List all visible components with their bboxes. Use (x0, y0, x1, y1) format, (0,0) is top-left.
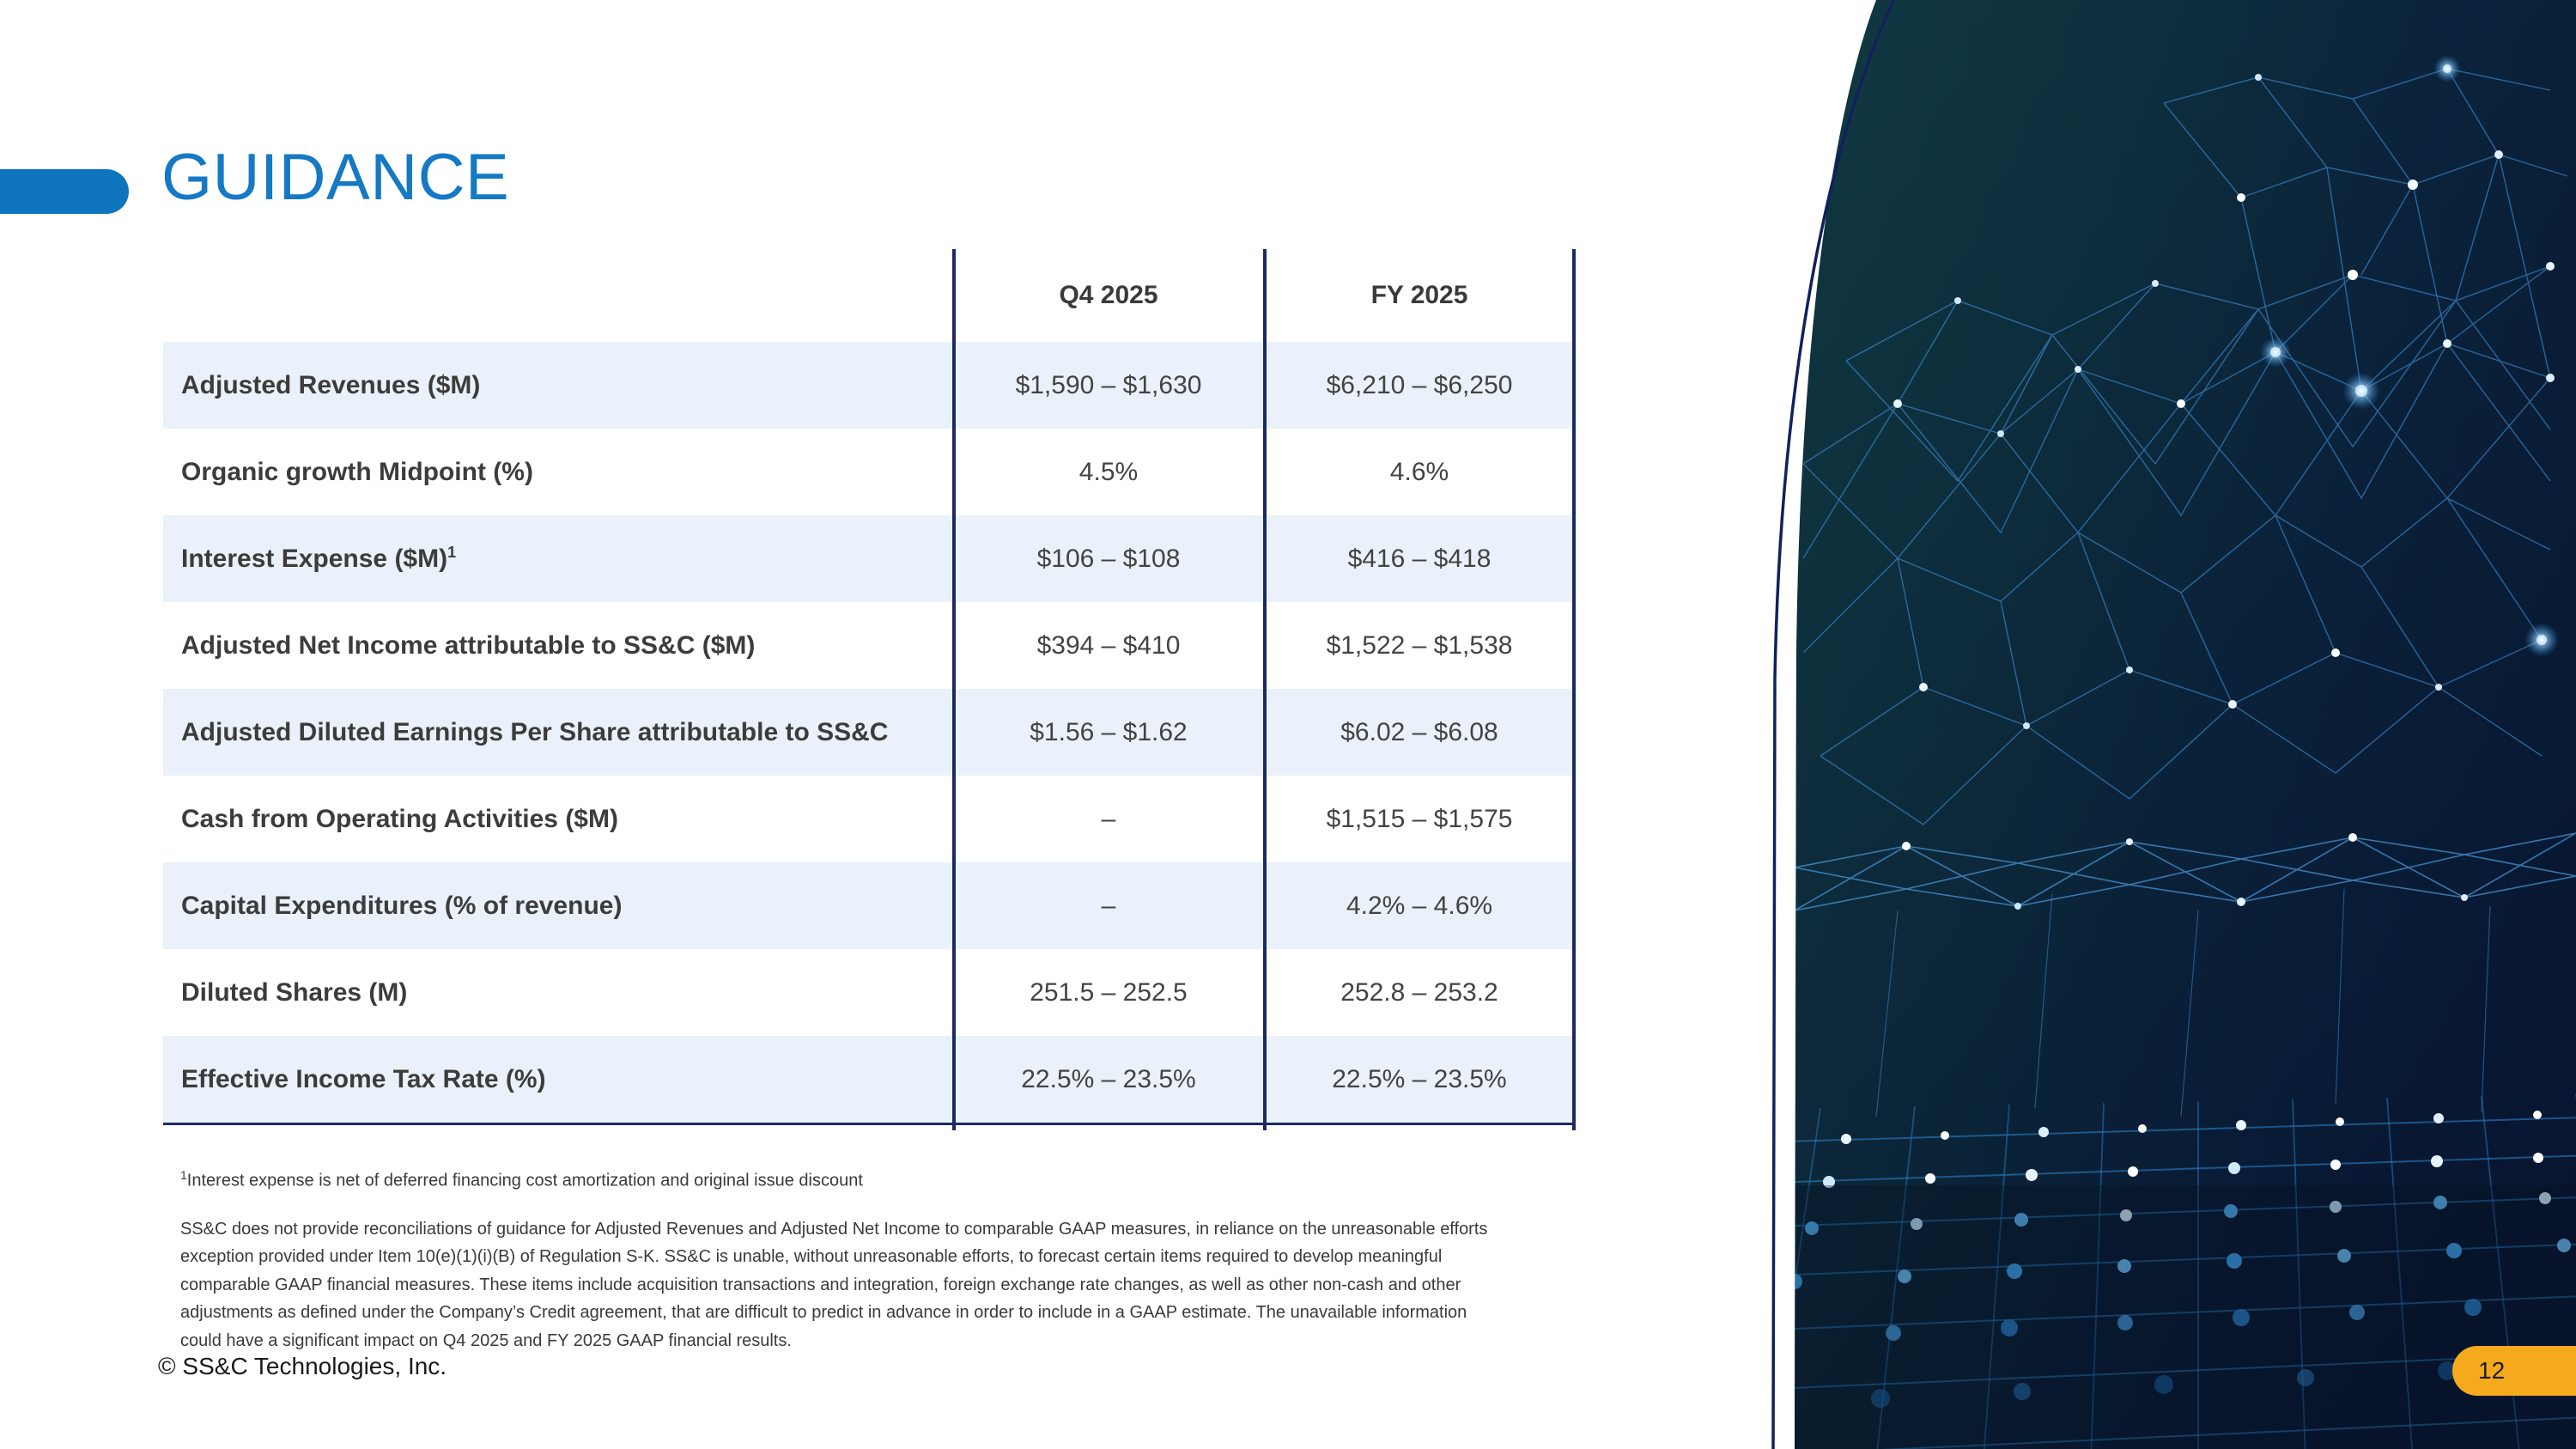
slide-canvas: GUIDANCE Q4 2025 FY 2025 Adjusted Revenu… (0, 0, 2576, 1449)
row-label: Adjusted Revenues ($M) (163, 371, 953, 400)
page-number-text: 12 (2478, 1357, 2505, 1385)
column-divider-left (952, 249, 956, 1130)
row-value-q4: – (953, 892, 1264, 921)
table-row: Interest Expense ($M)1$106 – $108$416 – … (163, 515, 1575, 602)
row-label: Interest Expense ($M)1 (163, 544, 953, 574)
page-number-badge: 12 (2452, 1346, 2576, 1396)
row-label: Diluted Shares (M) (163, 978, 953, 1008)
row-value-q4: $106 – $108 (953, 545, 1264, 574)
table-row: Effective Income Tax Rate (%)22.5% – 23.… (163, 1036, 1575, 1123)
network-graphic-panel (1795, 0, 2576, 1449)
row-value-q4: $1,590 – $1,630 (953, 371, 1264, 400)
network-mesh-svg (1795, 0, 2576, 1449)
row-value-q4: $1.56 – $1.62 (953, 718, 1264, 747)
row-label: Effective Income Tax Rate (%) (163, 1065, 953, 1094)
row-value-fy: 252.8 – 253.2 (1264, 978, 1575, 1008)
footnote-marker: 1 (180, 1168, 187, 1182)
row-label: Adjusted Net Income attributable to SS&C… (163, 631, 953, 661)
table-header-blank (163, 249, 953, 342)
table-row: Organic growth Midpoint (%)4.5%4.6% (163, 429, 1575, 515)
row-value-fy: $416 – $418 (1264, 545, 1575, 574)
row-value-q4: $394 – $410 (953, 631, 1264, 661)
row-value-fy: 4.6% (1264, 458, 1575, 487)
row-value-fy: $6.02 – $6.08 (1264, 718, 1575, 747)
row-value-q4: 22.5% – 23.5% (953, 1065, 1264, 1094)
row-label: Cash from Operating Activities ($M) (163, 805, 953, 834)
row-label: Capital Expenditures (% of revenue) (163, 892, 953, 921)
row-value-q4: 251.5 – 252.5 (953, 978, 1264, 1008)
footnote-interest-expense: 1Interest expense is net of deferred fin… (180, 1168, 863, 1191)
table-row: Cash from Operating Activities ($M)–$1,5… (163, 776, 1575, 862)
guidance-table: Q4 2025 FY 2025 Adjusted Revenues ($M)$1… (163, 249, 1575, 1125)
row-value-fy: $1,522 – $1,538 (1264, 631, 1575, 661)
disclaimer-paragraph: SS&C does not provide reconciliations of… (180, 1215, 1507, 1355)
table-header-q4: Q4 2025 (953, 249, 1264, 342)
row-label: Organic growth Midpoint (%) (163, 458, 953, 487)
row-value-fy: $6,210 – $6,250 (1264, 371, 1575, 400)
table-row: Adjusted Revenues ($M)$1,590 – $1,630$6,… (163, 342, 1575, 429)
column-divider-right (1572, 249, 1576, 1130)
title-accent-bar (0, 169, 129, 214)
table-row: Diluted Shares (M)251.5 – 252.5252.8 – 2… (163, 949, 1575, 1036)
row-value-fy: $1,515 – $1,575 (1264, 805, 1575, 834)
copyright-notice: © SS&C Technologies, Inc. (158, 1353, 447, 1380)
row-value-fy: 4.2% – 4.6% (1264, 892, 1575, 921)
column-divider-middle (1263, 249, 1267, 1130)
row-value-q4: – (953, 805, 1264, 834)
table-row: Adjusted Net Income attributable to SS&C… (163, 602, 1575, 689)
row-value-fy: 22.5% – 23.5% (1264, 1065, 1575, 1094)
row-label: Adjusted Diluted Earnings Per Share attr… (163, 718, 953, 747)
table-body: Adjusted Revenues ($M)$1,590 – $1,630$6,… (163, 342, 1575, 1125)
page-title: GUIDANCE (161, 142, 509, 214)
row-value-q4: 4.5% (953, 458, 1264, 487)
table-row: Capital Expenditures (% of revenue)–4.2%… (163, 862, 1575, 949)
table-row: Adjusted Diluted Earnings Per Share attr… (163, 689, 1575, 776)
footnote-text: Interest expense is net of deferred fina… (187, 1172, 863, 1190)
row-footnote-marker: 1 (447, 544, 456, 561)
table-header-fy: FY 2025 (1264, 249, 1575, 342)
table-header-row: Q4 2025 FY 2025 (163, 249, 1575, 342)
